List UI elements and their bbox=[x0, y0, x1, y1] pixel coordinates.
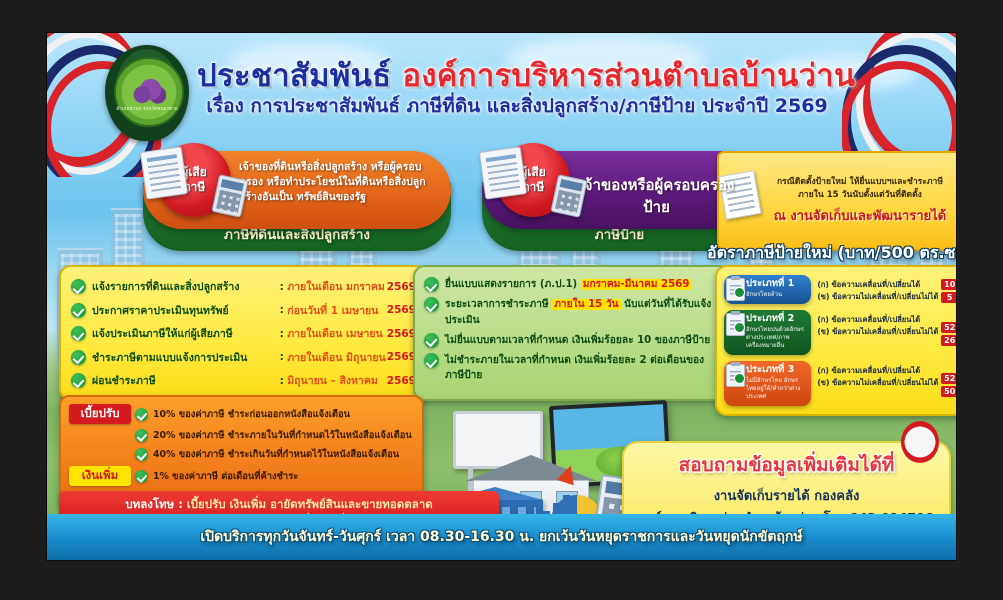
headline-main: ประชาสัมพันธ์ องค์การบริหารส่วนตำบลบ้านว… bbox=[197, 61, 837, 92]
rate-table-row: ประเภทที่ 2 อักษรไทยปนด้วยอักษรต่างประเท… bbox=[724, 310, 956, 355]
headline-part1: ประชาสัมพันธ์ bbox=[197, 58, 391, 94]
check-icon bbox=[71, 326, 86, 341]
contact-heading: สอบถามข้อมูลเพิ่มเติมได้ที่ bbox=[679, 450, 895, 480]
penalty-text: 40% ของค่าภาษี ชำระเกินวันที่กำหนดไว้ในห… bbox=[153, 447, 399, 462]
sign-detail-row: ยื่นแบบแสดงรายการ (ภ.ป.1) มกราคม-มีนาคม … bbox=[424, 277, 718, 292]
capsule-body-land: เจ้าของที่ดินหรือสิ่งปลูกสร้าง หรือผู้คร… bbox=[239, 151, 449, 206]
service-hours-text: เปิดบริการทุกวันจันทร์-วันศุกร์ เวลา 08.… bbox=[200, 526, 802, 548]
rate-type-desc: อักษรไทยล้วน bbox=[746, 291, 807, 299]
penalty-tag-surcharge: เงินเพิ่ม bbox=[69, 466, 131, 486]
schedule-row: แจ้งประเมินภาษีให้แก่ผู้เสียภาษี : ภายใน… bbox=[71, 325, 416, 342]
schedule-year: 2569 bbox=[387, 304, 416, 316]
check-icon bbox=[734, 287, 745, 298]
rate-desc-group: (ก) ข้อความเคลื่อนที่/เปลี่ยนได้ (ข) ข้อ… bbox=[811, 310, 941, 355]
rate-type-badge: ประเภทที่ 3 ไม่มีอักษรไทย อักษรไทยอยู่ใต… bbox=[724, 361, 811, 406]
rate-table-row: ประเภทที่ 1 อักษรไทยล้วน (ก) ข้อความเคลื… bbox=[724, 275, 956, 304]
page-title: ประชาสัมพันธ์ องค์การบริหารส่วนตำบลบ้านว… bbox=[197, 61, 837, 116]
taxpayer-badge-sign: ผู้เสีย ภาษี bbox=[496, 143, 570, 217]
calculator-icon bbox=[211, 174, 248, 217]
schedule-value: ภายในเดือน มิถุนายน bbox=[287, 349, 387, 366]
contact-line1: งานจัดเก็บรายได้ กองคลัง bbox=[714, 485, 860, 506]
sign-detail-row: ระยะเวลาการชำระภาษี ภายใน 15 วัน นับแต่ว… bbox=[424, 297, 718, 328]
check-icon bbox=[71, 303, 86, 318]
schedule-value: มิถุนายน – สิงหาคม bbox=[287, 372, 387, 389]
poster-canvas: อบต.บ้านว่าน อำเภอท่าบ่อ จังหวัดหนองคาย … bbox=[47, 33, 956, 560]
check-icon bbox=[135, 408, 148, 421]
schedule-colon: : bbox=[280, 304, 288, 316]
law-strip-body: เบี้ยปรับ เงินเพิ่ม อายัดทรัพย์สินและขาย… bbox=[183, 497, 433, 511]
sign-detail-row: ไม่ยื่นแบบตามเวลาที่กำหนด เงินเพิ่มร้อยล… bbox=[424, 333, 718, 348]
service-hours-footer: เปิดบริการทุกวันจันทร์-วันศุกร์ เวลา 08.… bbox=[47, 514, 956, 560]
rate-value-a: 52 bbox=[941, 373, 956, 384]
check-icon bbox=[135, 429, 148, 442]
sign-detail-pre: ยื่นแบบแสดงรายการ (ภ.ป.1) bbox=[445, 279, 581, 290]
penalty-row: 40% ของค่าภาษี ชำระเกินวันที่กำหนดไว้ในห… bbox=[69, 447, 414, 462]
rate-desc-group: (ก) ข้อความเคลื่อนที่/เปลี่ยนได้ (ข) ข้อ… bbox=[811, 361, 941, 406]
rate-type-badge: ประเภทที่ 1 อักษรไทยล้วน bbox=[724, 275, 811, 304]
rate-desc-a: (ก) ข้อความเคลื่อนที่/เปลี่ยนได้ bbox=[817, 279, 938, 291]
schedule-row: ประกาศราคาประเมินทุนทรัพย์ : ก่อนวันที่ … bbox=[71, 302, 416, 319]
sign-detail-text: ระยะเวลาการชำระภาษี ภายใน 15 วัน นับแต่ว… bbox=[445, 297, 718, 328]
schedule-value: ภายในเดือน เมษายน bbox=[287, 325, 387, 342]
rate-desc-b: (ข) ข้อความไม่เคลื่อนที่/เปลี่ยนไม่ได้ bbox=[817, 326, 938, 338]
schedule-year: 2569 bbox=[387, 375, 416, 387]
rate-table-row: ประเภทที่ 3 ไม่มีอักษรไทย อักษรไทยอยู่ใต… bbox=[724, 361, 956, 406]
check-icon bbox=[71, 373, 86, 388]
penalty-text: 20% ของค่าภาษี ชำระภายในวันที่กำหนดไว้ใน… bbox=[153, 428, 412, 443]
rate-table-header: อัตราภาษีป้ายใหม่ (บาท/500 ตร.ซม.) bbox=[707, 241, 956, 266]
notice-line3: ณ งานจัดเก็บและพัฒนารายได้ bbox=[774, 205, 946, 226]
schedule-colon: : bbox=[280, 328, 288, 340]
check-icon bbox=[135, 448, 148, 461]
penalty-panel: เบี้ยปรับ 10% ของค่าภาษี ชำระก่อนออกหนัง… bbox=[59, 395, 424, 505]
rate-value-b: 5 bbox=[941, 292, 956, 303]
poster-stage: อบต.บ้านว่าน อำเภอท่าบ่อ จังหวัดหนองคาย … bbox=[0, 0, 1003, 600]
sign-detail-text: ไม่ยื่นแบบตามเวลาที่กำหนด เงินเพิ่มร้อยล… bbox=[445, 333, 718, 348]
law-strip-key: บทลงโทษ : bbox=[125, 497, 182, 511]
notice-line1: กรณีติดตั้งป้ายใหม่ ให้ยื่นแบบฯและชำระภา… bbox=[777, 176, 943, 189]
schedule-value: ก่อนวันที่ 1 เมษายน bbox=[287, 302, 387, 319]
schedule-label: ประกาศราคาประเมินทุนทรัพย์ bbox=[92, 302, 280, 319]
rate-value-a: 10 bbox=[941, 279, 956, 290]
rate-desc-b: (ข) ข้อความไม่เคลื่อนที่/เปลี่ยนไม่ได้ bbox=[817, 291, 938, 303]
sign-detail-highlight: ภายใน 15 วัน bbox=[552, 299, 620, 310]
rate-type-desc: ไม่มีอักษรไทย อักษรไทยอยู่ใต้/ต่ำกว่าต่า… bbox=[746, 377, 807, 401]
check-icon bbox=[135, 470, 148, 483]
schedule-year: 2569 bbox=[387, 281, 416, 293]
penalty-row: 20% ของค่าภาษี ชำระภายในวันที่กำหนดไว้ใน… bbox=[69, 428, 414, 443]
taxpayer-capsule-land: ผู้เสีย ภาษี เจ้าของที่ดินหรือสิ่งปลูกสร… bbox=[143, 151, 451, 229]
sign-rate-table-panel: ประเภทที่ 1 อักษรไทยล้วน (ก) ข้อความเคลื… bbox=[715, 265, 956, 416]
headline-subtitle: เรื่อง การประชาสัมพันธ์ ภาษีที่ดิน และสิ… bbox=[197, 97, 837, 116]
rate-desc-a: (ก) ข้อความเคลื่อนที่/เปลี่ยนได้ bbox=[817, 365, 938, 377]
capsule-body-sign: เจ้าของหรือผู้ครอบครองป้าย bbox=[568, 151, 757, 219]
sign-tax-details-panel: ยื่นแบบแสดงรายการ (ภ.ป.1) มกราคม-มีนาคม … bbox=[413, 265, 730, 401]
document-icon bbox=[140, 146, 188, 199]
sign-detail-row: ไม่ชำระภายในเวลาที่กำหนด เงินเพิ่มร้อยละ… bbox=[424, 353, 718, 384]
check-icon bbox=[71, 350, 86, 365]
rate-type-name: ประเภทที่ 1 bbox=[746, 279, 807, 290]
check-icon bbox=[424, 333, 439, 348]
schedule-value: ภายในเดือน มกราคม bbox=[287, 278, 387, 295]
sign-detail-text: ยื่นแบบแสดงรายการ (ภ.ป.1) มกราคม-มีนาคม … bbox=[445, 277, 718, 292]
sign-detail-highlight: มกราคม-มีนาคม 2569 bbox=[581, 279, 692, 290]
schedule-row: ชำระภาษีตามแบบแจ้งการประเมิน : ภายในเดือ… bbox=[71, 349, 416, 366]
schedule-colon: : bbox=[280, 351, 288, 363]
schedule-year: 2569 bbox=[387, 351, 416, 363]
schedule-label: ชำระภาษีตามแบบแจ้งการประเมิน bbox=[92, 349, 280, 366]
law-strip-line1: บทลงโทษ : เบี้ยปรับ เงินเพิ่ม อายัดทรัพย… bbox=[69, 496, 489, 513]
check-icon bbox=[734, 322, 745, 333]
schedule-label: แจ้งรายการที่ดินและสิ่งปลูกสร้าง bbox=[92, 278, 280, 295]
rate-value-group: 52 26 bbox=[941, 310, 956, 355]
penalty-row: เบี้ยปรับ 10% ของค่าภาษี ชำระก่อนออกหนัง… bbox=[69, 404, 414, 424]
emblem-bottom-text: อำเภอท่าบ่อ จังหวัดหนองคาย bbox=[105, 105, 189, 112]
rate-value-group: 52 50 bbox=[941, 361, 956, 406]
penalty-text: 1% ของค่าภาษี ต่อเดือนที่ค้างชำระ bbox=[153, 469, 298, 484]
sign-detail-text: ไม่ชำระภายในเวลาที่กำหนด เงินเพิ่มร้อยละ… bbox=[445, 353, 718, 384]
penalty-tag-spacer bbox=[69, 454, 131, 456]
check-icon bbox=[424, 277, 439, 292]
land-tax-schedule-panel: แจ้งรายการที่ดินและสิ่งปลูกสร้าง : ภายใน… bbox=[59, 265, 428, 401]
emblem-glyph-icon bbox=[132, 79, 166, 105]
emblem-inner-disc bbox=[114, 57, 184, 127]
rate-type-name: ประเภทที่ 2 bbox=[746, 314, 807, 325]
rate-type-name: ประเภทที่ 3 bbox=[746, 365, 807, 376]
schedule-label: แจ้งประเมินภาษีให้แก่ผู้เสียภาษี bbox=[92, 325, 280, 342]
penalty-row: เงินเพิ่ม 1% ของค่าภาษี ต่อเดือนที่ค้างช… bbox=[69, 466, 414, 486]
rate-value-b: 50 bbox=[941, 386, 956, 397]
rate-desc-group: (ก) ข้อความเคลื่อนที่/เปลี่ยนได้ (ข) ข้อ… bbox=[811, 275, 941, 304]
rate-type-badge: ประเภทที่ 2 อักษรไทยปนด้วยอักษรต่างประเท… bbox=[724, 310, 811, 355]
taxpayer-badge-land: ผู้เสีย ภาษี bbox=[157, 143, 231, 217]
taxpayer-capsule-sign: ผู้เสีย ภาษี เจ้าของหรือผู้ครอบครองป้าย bbox=[482, 151, 757, 229]
schedule-colon: : bbox=[280, 281, 288, 293]
rate-value-b: 26 bbox=[941, 335, 956, 346]
seal-icon bbox=[901, 421, 939, 463]
document-icon bbox=[479, 146, 527, 199]
check-icon bbox=[424, 297, 439, 312]
schedule-row: แจ้งรายการที่ดินและสิ่งปลูกสร้าง : ภายใน… bbox=[71, 278, 416, 295]
notice-line2: ภายใน 15 วันนับตั้งแต่วันที่ติดตั้ง bbox=[798, 189, 922, 202]
schedule-row: ผ่อนชำระภาษี : มิถุนายน – สิงหาคม 2569 bbox=[71, 372, 416, 389]
schedule-year: 2569 bbox=[387, 328, 416, 340]
penalty-text: 10% ของค่าภาษี ชำระก่อนออกหนังสือแจ้งเตื… bbox=[153, 407, 350, 422]
rate-desc-a: (ก) ข้อความเคลื่อนที่/เปลี่ยนได้ bbox=[817, 314, 938, 326]
organization-emblem: อบต.บ้านว่าน อำเภอท่าบ่อ จังหวัดหนองคาย bbox=[105, 45, 189, 141]
check-icon bbox=[424, 353, 439, 368]
schedule-label: ผ่อนชำระภาษี bbox=[92, 372, 280, 389]
rate-type-desc: อักษรไทยปนด้วยอักษรต่างประเทศ/ภาพเครื่อง… bbox=[746, 326, 807, 350]
rate-value-a: 52 bbox=[941, 322, 956, 333]
penalty-tag-fine: เบี้ยปรับ bbox=[69, 404, 131, 424]
check-icon bbox=[71, 279, 86, 294]
headline-part2: องค์การบริหารส่วนตำบลบ้านว่าน bbox=[402, 58, 855, 94]
penalty-tag-spacer bbox=[69, 435, 131, 437]
rate-desc-b: (ข) ข้อความไม่เคลื่อนที่/เปลี่ยนไม่ได้ bbox=[817, 377, 938, 389]
rate-value-group: 10 5 bbox=[941, 275, 956, 304]
sign-detail-pre: ระยะเวลาการชำระภาษี bbox=[445, 299, 552, 310]
